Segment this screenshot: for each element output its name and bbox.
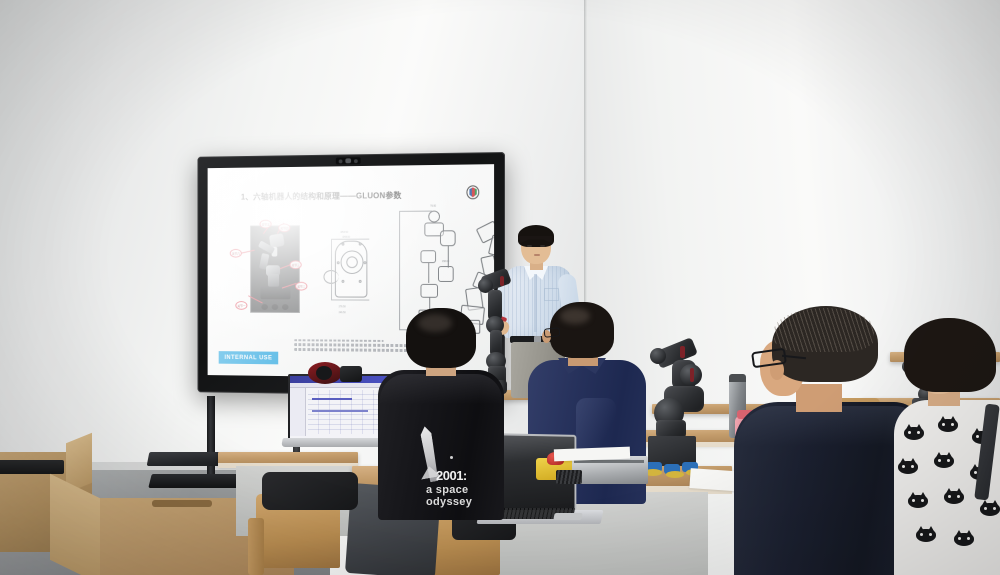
box-handle-cutout (152, 500, 212, 507)
slide-callout: 关节一 (235, 301, 247, 310)
slide-callout: 关节六 (230, 249, 242, 258)
tv-stand-post-left (207, 396, 215, 486)
internal-use-badge: INTERNAL USE (219, 351, 279, 364)
person-attendee-masked (898, 318, 1000, 575)
photo-scene: 1、六轴机器人的结构和原理——GLUON参数 (0, 0, 1000, 575)
drawing-dim-label: Ø48.00 (342, 236, 349, 239)
slide-callout: 关节三 (289, 260, 301, 269)
slide-callout: 关节二 (295, 282, 307, 291)
robot-arm-table (646, 344, 730, 478)
slide-drawing-top-view: Ø54.50 Ø48.00 276.50 246.50 (322, 227, 381, 325)
school-crest-logo-icon (466, 185, 479, 199)
slide-callout: 关节四 (278, 223, 290, 232)
slide-title-text: 1、六轴机器人的结构和原理——GLUON参数 (241, 191, 402, 201)
box-top-device (0, 460, 64, 474)
drawing-dim-label: 246.50 (339, 311, 346, 314)
attendee-b-glasses-icon (544, 327, 561, 338)
backpack-left (262, 472, 358, 510)
tshirt-text-line2: a space odyssey (426, 484, 504, 508)
person-attendee-glasses (744, 306, 904, 575)
black-device-on-shelf (340, 366, 362, 382)
person-attendee-black-tshirt: 2001: a space odyssey (378, 308, 504, 518)
slide-title: 1、六轴机器人的结构和原理——GLUON参数 (241, 189, 402, 202)
attendee-d-hair (904, 318, 996, 392)
cables (556, 470, 582, 484)
tshirt-text-line1: 2001: (436, 468, 467, 483)
display-camera-icon (336, 157, 361, 164)
drawing-dim-label: 276.50 (339, 305, 346, 308)
slide-callout: 关节五 (260, 220, 272, 229)
slide-body-line (294, 339, 383, 342)
drawing-dim-label: 76.00 (430, 205, 436, 208)
drawing-dim-label: Ø54.50 (341, 231, 348, 234)
